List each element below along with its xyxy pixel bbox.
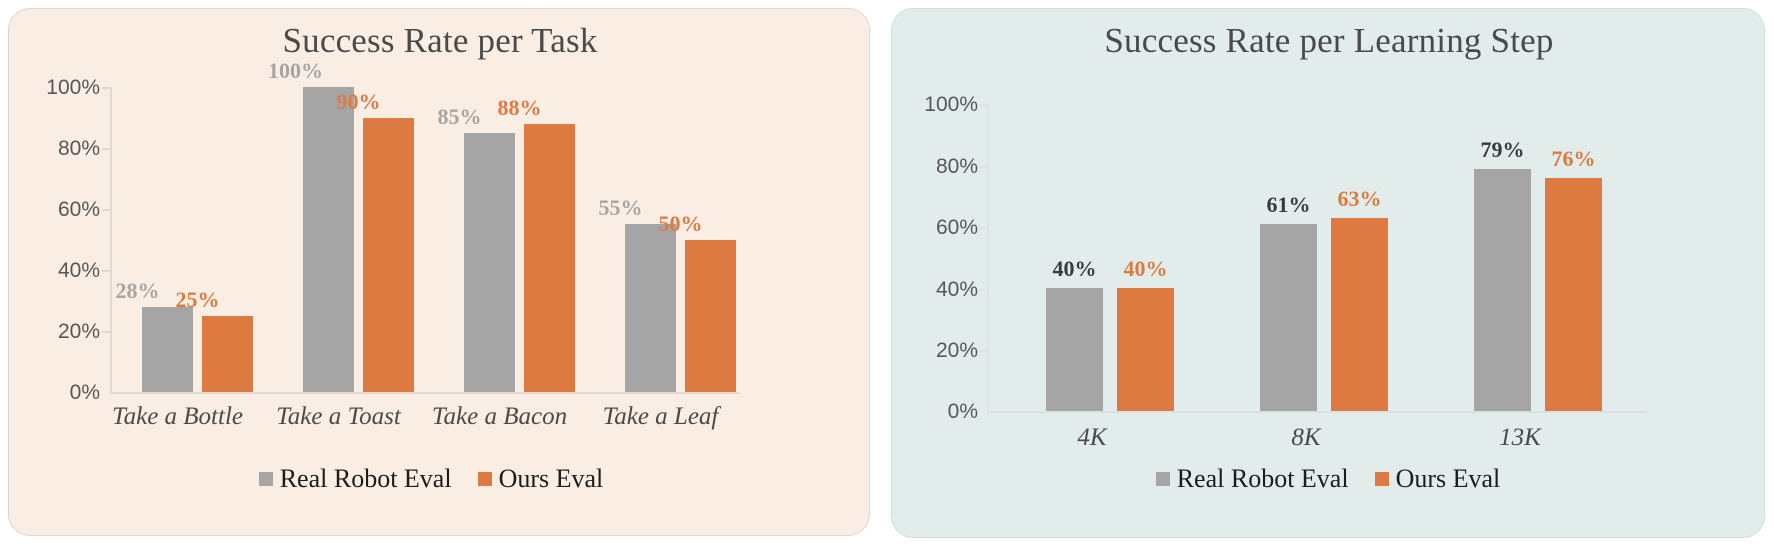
chart-title-right: Success Rate per Learning Step xyxy=(892,21,1766,61)
bar-value-right-4k-ours: 40% xyxy=(1117,258,1174,280)
legend-swatch-orange-icon xyxy=(478,472,492,486)
x-axis-baseline-left xyxy=(110,392,740,394)
bar-value-left-leaf-real: 55% xyxy=(595,197,646,219)
legend-right: Real Robot Eval Ours Eval xyxy=(891,466,1765,492)
x-axis-label-left-bacon: Take a Bacon xyxy=(414,404,585,430)
ytick-label-left-40: 40% xyxy=(20,260,100,281)
bar-value-left-leaf-ours: 50% xyxy=(655,213,706,235)
bar-value-left-bottle-real: 28% xyxy=(112,280,163,302)
bar-left-leaf-real[interactable] xyxy=(625,224,676,392)
chart-title-left: Success Rate per Task xyxy=(9,21,871,61)
ytick-label-left-0: 0% xyxy=(20,382,100,403)
ytick-label-right-0: 0% xyxy=(898,401,978,422)
legend-left: Real Robot Eval Ours Eval xyxy=(0,466,862,492)
ytick-label-left-60: 60% xyxy=(20,199,100,220)
ytick-label-right-100: 100% xyxy=(898,94,978,115)
bar-value-left-toast-ours: 90% xyxy=(333,91,384,113)
plot-area-left xyxy=(110,87,740,392)
bar-left-bacon-real[interactable] xyxy=(464,133,515,392)
bar-right-4k-ours[interactable] xyxy=(1117,288,1174,411)
legend-label-ours-eval: Ours Eval xyxy=(1396,466,1501,492)
ytick-label-left-20: 20% xyxy=(20,321,100,342)
x-axis-label-left-toast: Take a Toast xyxy=(253,404,424,430)
ytick-label-left-100: 100% xyxy=(20,77,100,98)
legend-item-ours-eval-right[interactable]: Ours Eval xyxy=(1375,466,1501,492)
legend-item-ours-eval-left[interactable]: Ours Eval xyxy=(478,466,604,492)
bar-value-right-4k-real: 40% xyxy=(1046,258,1103,280)
bar-value-left-toast-real: 100% xyxy=(268,60,319,82)
bar-value-left-bacon-real: 85% xyxy=(434,106,485,128)
bar-left-bottle-ours[interactable] xyxy=(202,316,253,392)
legend-label-ours-eval: Ours Eval xyxy=(499,466,604,492)
x-axis-label-right-13k: 13K xyxy=(1438,425,1602,451)
legend-swatch-orange-icon xyxy=(1375,472,1389,486)
bar-value-right-8k-ours: 63% xyxy=(1331,188,1388,210)
x-axis-label-left-leaf: Take a Leaf xyxy=(575,404,746,430)
bar-left-bottle-real[interactable] xyxy=(142,307,193,392)
legend-item-real-robot-eval-right[interactable]: Real Robot Eval xyxy=(1156,466,1349,492)
bar-left-toast-ours[interactable] xyxy=(363,118,414,392)
bar-value-left-bottle-ours: 25% xyxy=(172,289,223,311)
bar-right-4k-real[interactable] xyxy=(1046,288,1103,411)
ytick-label-left-80: 80% xyxy=(20,138,100,159)
bar-right-13k-ours[interactable] xyxy=(1545,178,1602,411)
x-axis-label-right-8k: 8K xyxy=(1224,425,1388,451)
legend-swatch-grey-icon xyxy=(1156,472,1170,486)
x-axis-label-left-bottle: Take a Bottle xyxy=(92,404,263,430)
ytick-label-right-60: 60% xyxy=(898,217,978,238)
bar-left-leaf-ours[interactable] xyxy=(685,240,736,392)
bar-left-toast-real[interactable] xyxy=(303,87,354,392)
legend-label-real-robot-eval: Real Robot Eval xyxy=(1177,466,1349,492)
bar-value-right-13k-ours: 76% xyxy=(1545,148,1602,170)
ytick-label-right-20: 20% xyxy=(898,340,978,361)
bar-right-13k-real[interactable] xyxy=(1474,169,1531,411)
legend-item-real-robot-eval-left[interactable]: Real Robot Eval xyxy=(259,466,452,492)
ytick-label-right-80: 80% xyxy=(898,156,978,177)
legend-swatch-grey-icon xyxy=(259,472,273,486)
bar-value-right-8k-real: 61% xyxy=(1260,194,1317,216)
bar-value-right-13k-real: 79% xyxy=(1474,139,1531,161)
bar-right-8k-real[interactable] xyxy=(1260,224,1317,411)
bar-value-left-bacon-ours: 88% xyxy=(494,97,545,119)
figure-root: Success Rate per Task 100% 80% 60% 40% 2… xyxy=(0,0,1774,550)
ytick-label-right-40: 40% xyxy=(898,279,978,300)
bar-left-bacon-ours[interactable] xyxy=(524,124,575,392)
x-axis-baseline-right xyxy=(987,411,1647,413)
legend-label-real-robot-eval: Real Robot Eval xyxy=(280,466,452,492)
x-axis-label-right-4k: 4K xyxy=(1010,425,1174,451)
bar-right-8k-ours[interactable] xyxy=(1331,218,1388,411)
